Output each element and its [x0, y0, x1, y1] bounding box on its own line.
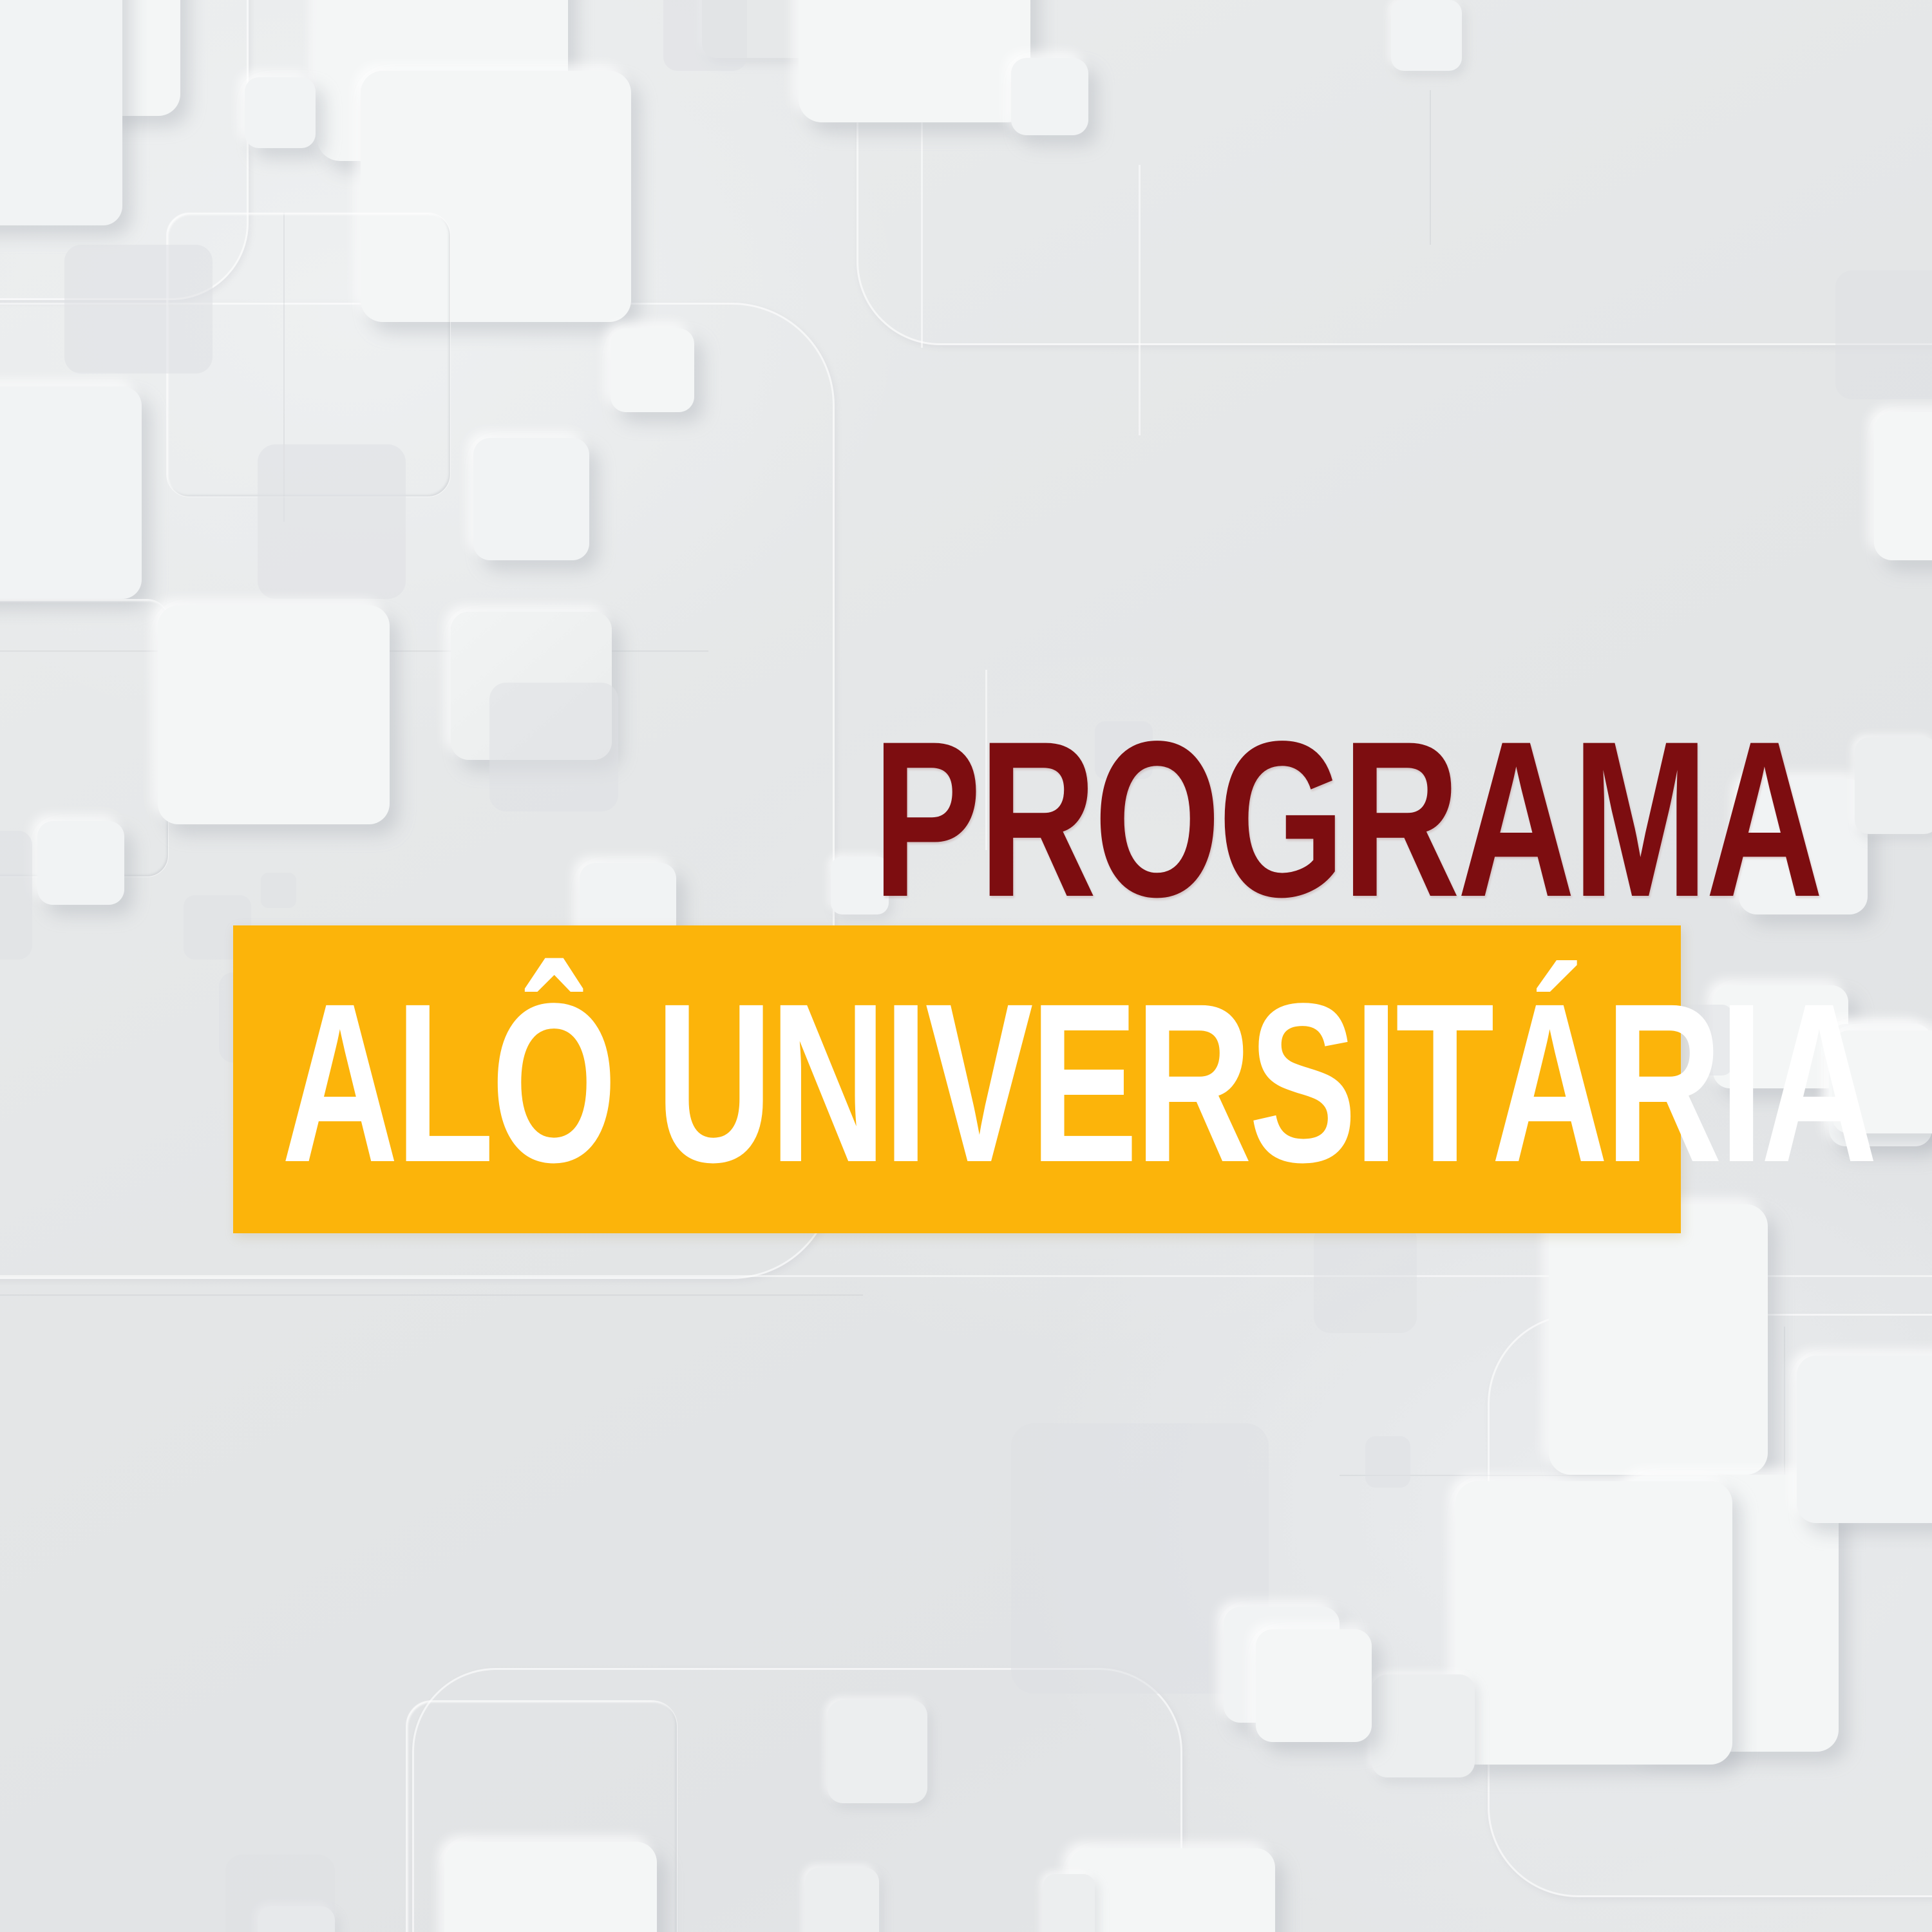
background-tile	[245, 77, 316, 148]
background-tile	[444, 1842, 657, 1932]
background-tile	[0, 831, 32, 960]
background-tile	[1256, 1629, 1372, 1742]
background-tile	[580, 863, 676, 953]
background-tile	[1043, 1874, 1095, 1932]
background-tile	[1314, 1224, 1417, 1333]
background-tile	[663, 0, 747, 71]
background-hairline	[0, 1294, 863, 1296]
background-tile	[1874, 412, 1932, 560]
background-tile	[611, 328, 694, 412]
background-tile	[473, 438, 589, 560]
background-tile	[831, 857, 889, 914]
background-hairline	[985, 670, 987, 850]
background-tile	[799, 0, 1030, 122]
background-tile	[1372, 1674, 1475, 1777]
background-tile	[1835, 270, 1932, 399]
background-tile	[1832, 1030, 1932, 1133]
background-tile	[219, 972, 309, 1063]
background-tile	[1549, 1204, 1768, 1475]
background-tile	[1674, 1005, 1732, 1075]
background-tile	[805, 1868, 879, 1932]
background-tile	[158, 605, 390, 824]
background-tile	[1739, 779, 1868, 914]
background-tile	[37, 821, 124, 905]
background-tile	[1069, 1848, 1275, 1932]
background-tile	[1024, 1024, 1108, 1108]
background-tile	[1011, 58, 1088, 135]
background-tile	[489, 683, 618, 811]
background-tile	[1391, 0, 1462, 71]
background-hairline	[1430, 90, 1431, 245]
background-tile	[64, 245, 213, 374]
background-tile	[261, 873, 296, 908]
promo-graphic-canvas: PROGRAMA ALÔ UNIVERSITÁRIA	[0, 0, 1932, 1932]
background-tile	[0, 386, 142, 599]
background-tile	[1455, 1481, 1732, 1765]
background-tile	[0, 0, 122, 225]
background-tile	[258, 444, 406, 599]
background-tile	[1797, 1356, 1932, 1523]
background-tile	[184, 895, 251, 960]
background-tile	[828, 1700, 927, 1803]
background-tile	[1365, 1436, 1410, 1488]
background-tile	[1095, 721, 1153, 779]
background-tile	[1855, 737, 1932, 834]
background-tile	[1713, 985, 1848, 1088]
background-hairline	[1139, 165, 1141, 435]
background-tile	[225, 1855, 335, 1932]
